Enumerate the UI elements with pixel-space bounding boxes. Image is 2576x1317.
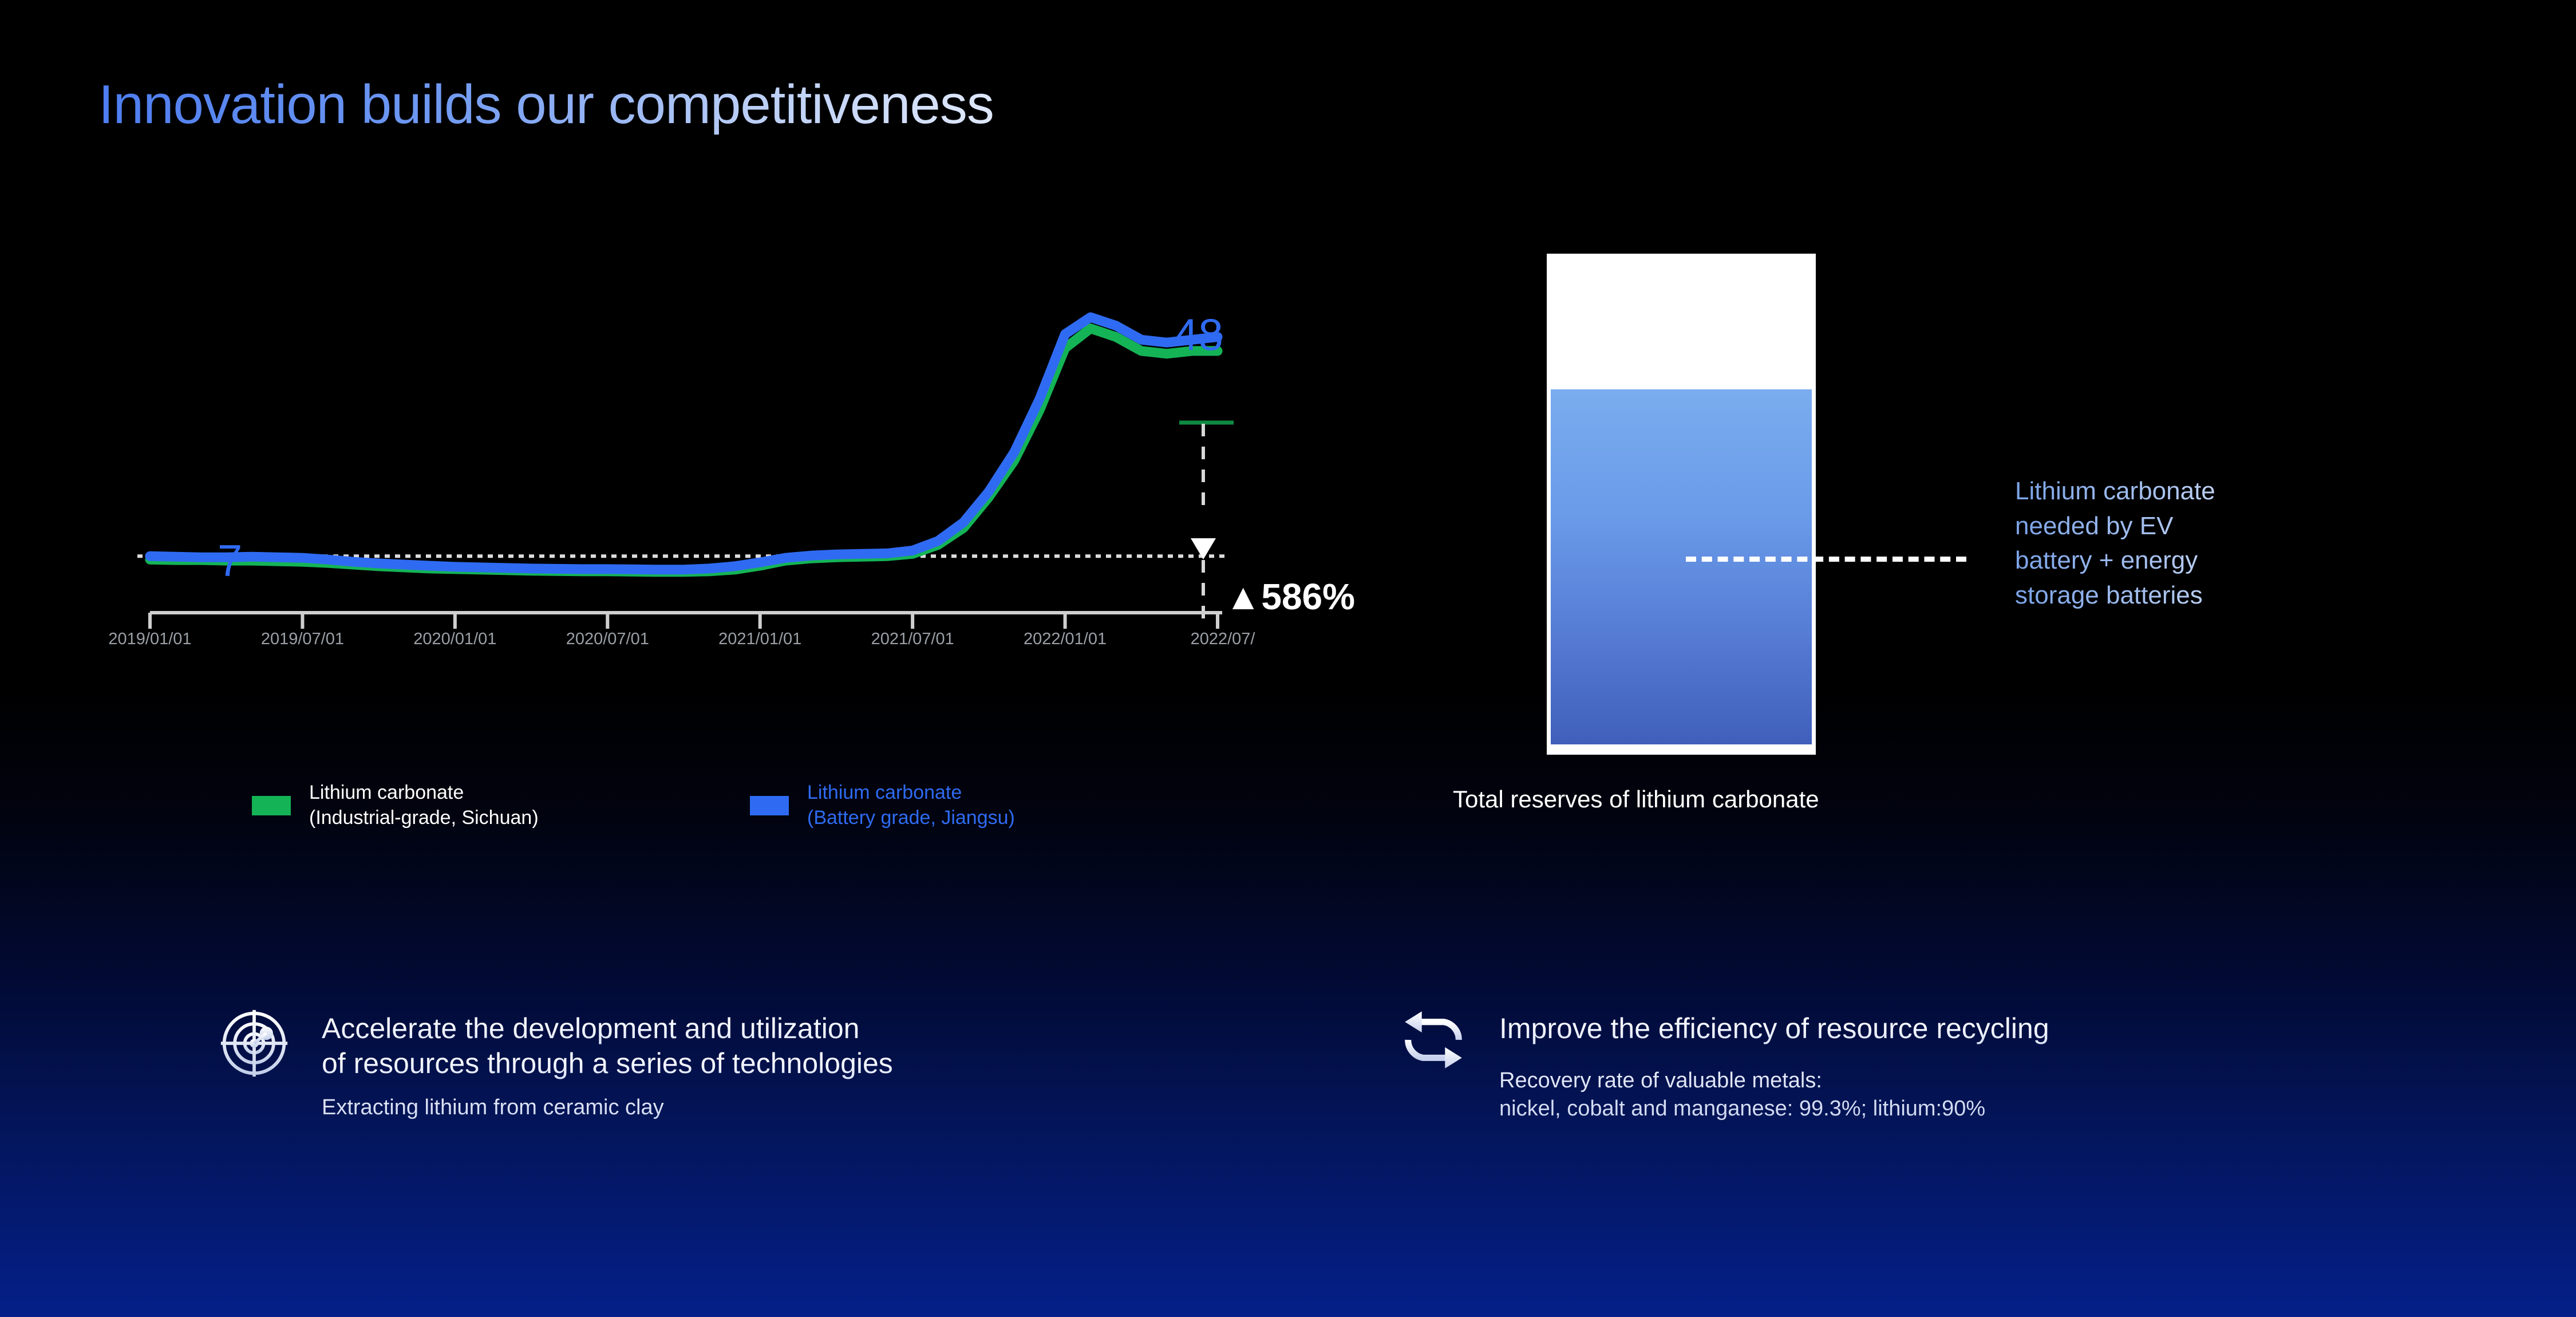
x-tick-label: 2019/01/01 (108, 630, 191, 649)
x-tick-label: 2021/07/01 (871, 630, 954, 649)
chart-end-value-label: 48 (1174, 312, 1223, 357)
target-radar-icon (219, 1008, 290, 1082)
legend-label-industrial: Lithium carbonate (Industrial-grade, Sic… (309, 780, 539, 830)
reserves-container (1547, 254, 1816, 755)
x-tick-label: 2019/07/01 (261, 630, 344, 649)
x-axis-label-row: 2019/01/012019/07/012020/01/012020/07/01… (137, 630, 1351, 664)
x-tick-label: 2020/07/01 (566, 630, 649, 649)
feature-heading: Accelerate the development and utilizati… (322, 1012, 893, 1079)
legend-label-battery: Lithium carbonate (Battery grade, Jiangs… (807, 780, 1015, 830)
feature-subtext: Extracting lithium from ceramic clay (322, 1094, 893, 1122)
feature-resource-recycling: Improve the efficiency of resource recyc… (1400, 1008, 2049, 1122)
feature-heading: Improve the efficiency of resource recyc… (1499, 1012, 2049, 1044)
legend-swatch-industrial (252, 796, 291, 815)
feature-resource-development: Accelerate the development and utilizati… (219, 1008, 893, 1122)
chart-start-value-label: 7 (218, 538, 242, 583)
series-line-battery (150, 317, 1218, 570)
chart-delta-badge: ▲586% (1225, 578, 1355, 615)
x-tick-label: 2022/01/01 (1024, 630, 1107, 649)
chart-plot-area (137, 252, 1351, 756)
x-axis-ticks (150, 613, 1218, 629)
reserves-diagram (1547, 254, 1816, 755)
recycle-loop-icon (1400, 1008, 1467, 1075)
x-tick-label: 2020/01/01 (413, 630, 496, 649)
legend-item-industrial[interactable]: Lithium carbonate (Industrial-grade, Sic… (252, 780, 539, 830)
legend-swatch-battery (750, 796, 789, 815)
reserves-annotation-text: Lithium carbonate needed by EV battery +… (2015, 474, 2370, 613)
legend-item-battery[interactable]: Lithium carbonate (Battery grade, Jiangs… (750, 780, 1015, 830)
x-tick-label: 2022/07/ (1191, 630, 1255, 649)
feature-subtext: Recovery rate of valuable metals: nickel… (1499, 1067, 2049, 1122)
price-trend-chart: 7 48 ▲586% 2019/01/012019/07/012020/01/0… (137, 252, 1351, 756)
reserves-fill-level (1551, 389, 1812, 745)
x-tick-label: 2021/01/01 (718, 630, 801, 649)
reserves-need-leader-line (1686, 557, 1966, 562)
reserves-caption: Total reserves of lithium carbonate (1453, 786, 1819, 813)
chart-legend: Lithium carbonate (Industrial-grade, Sic… (114, 776, 1202, 845)
page-title: Innovation builds our competitiveness (98, 73, 994, 136)
